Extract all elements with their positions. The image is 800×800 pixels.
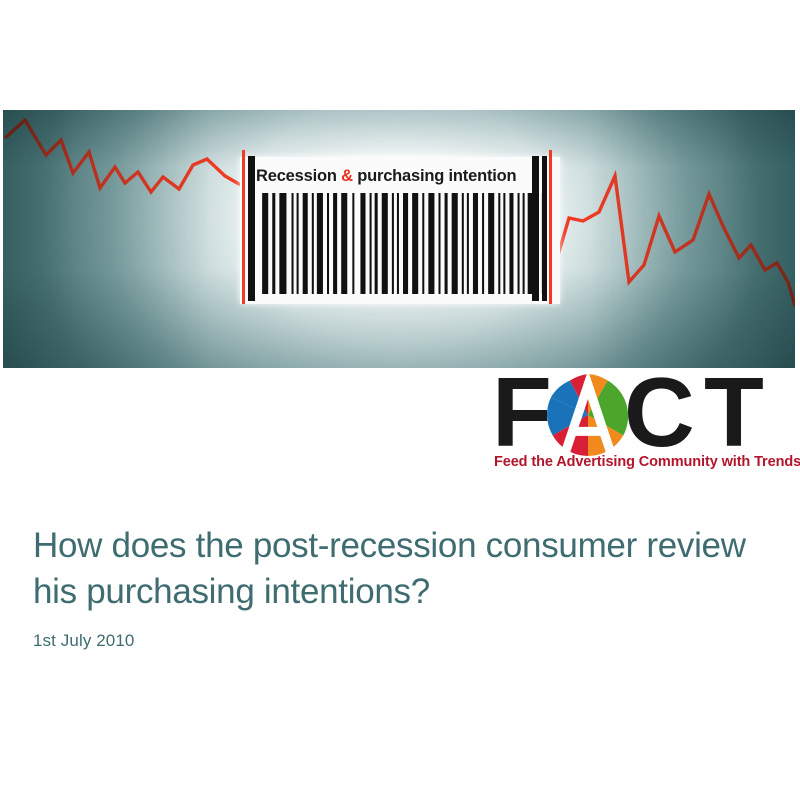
- fact-logo: F: [492, 370, 800, 480]
- barcode-label: Recession & purchasing intention: [256, 162, 550, 190]
- page-date: 1st July 2010: [33, 631, 763, 651]
- fact-letter-c: C: [624, 370, 691, 454]
- barcode-graphic: Recession & purchasing intention: [240, 157, 560, 304]
- title-block: How does the post-recession consumer rev…: [33, 523, 763, 651]
- barcode-label-prefix: Recession: [256, 167, 341, 185]
- fact-wordmark: F: [492, 370, 800, 454]
- fact-letter-t: T: [704, 370, 760, 454]
- fact-letter-f: F: [492, 370, 548, 454]
- barcode-label-suffix: purchasing intention: [353, 167, 517, 185]
- page-title: How does the post-recession consumer rev…: [33, 523, 763, 615]
- barcode-bars: [252, 193, 552, 294]
- fact-circular-a-icon: [547, 374, 629, 456]
- fact-tagline: Feed the Advertising Community with Tren…: [494, 454, 800, 470]
- barcode-label-ampersand: &: [341, 167, 353, 185]
- barcode-left-guard-line: [242, 150, 245, 304]
